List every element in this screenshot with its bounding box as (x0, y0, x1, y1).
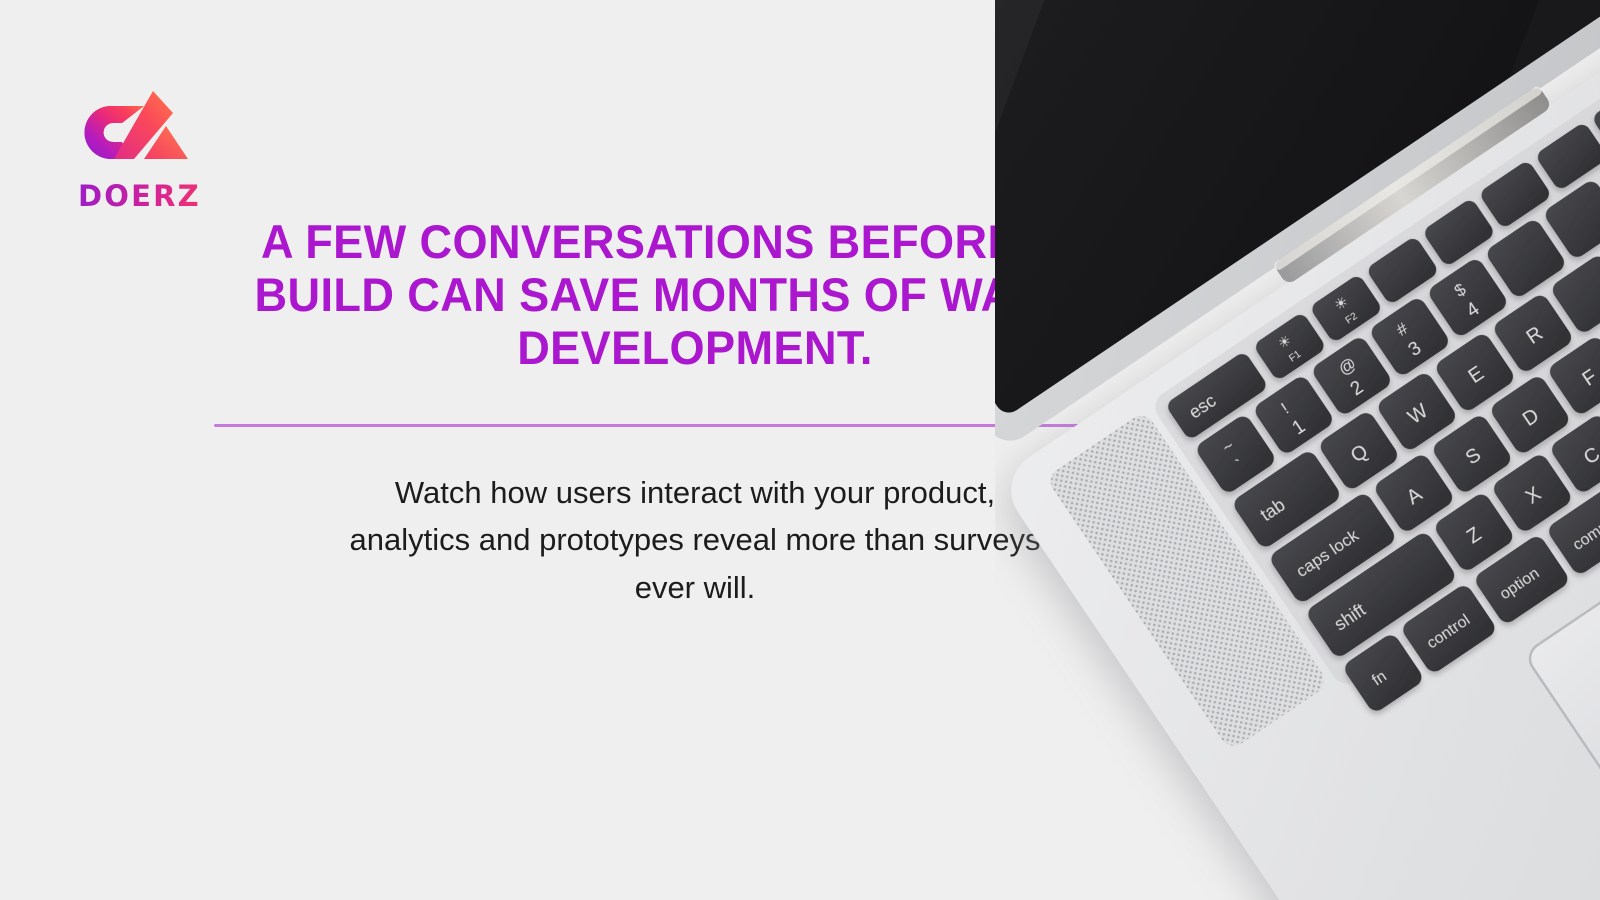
key-f3[interactable] (1365, 235, 1439, 305)
headline: A FEW CONVERSATIONS BEFORE YOU BUILD CAN… (220, 215, 1170, 374)
key-f7[interactable] (1591, 83, 1600, 153)
svg-text:shift: shift (1331, 600, 1370, 635)
key-f[interactable]: F (1546, 334, 1600, 417)
brand-logo: DOERZ (78, 88, 228, 211)
svg-text:Z: Z (1463, 523, 1485, 548)
key-r[interactable]: R (1491, 292, 1575, 375)
svg-text:#: # (1393, 318, 1412, 339)
svg-text:C: C (1580, 443, 1600, 469)
trackpad[interactable] (1524, 419, 1600, 894)
svg-text:fn: fn (1369, 668, 1390, 690)
brand-wordmark: DOERZ (78, 182, 228, 211)
svg-text:A: A (1403, 483, 1427, 509)
svg-text:W: W (1404, 400, 1432, 429)
svg-text:R: R (1523, 322, 1547, 348)
svg-text:control: control (1424, 612, 1473, 653)
key-command[interactable]: command (1545, 471, 1600, 577)
key-shift[interactable]: shift (1305, 530, 1458, 660)
key-s[interactable]: S (1430, 413, 1514, 496)
svg-text:command: command (1570, 501, 1600, 554)
svg-text:@: @ (1335, 354, 1360, 379)
key-control[interactable]: control (1399, 582, 1498, 675)
key-t[interactable] (1549, 253, 1600, 336)
svg-text:D: D (1519, 405, 1543, 431)
key-3[interactable]: # 3 (1368, 295, 1452, 378)
svg-text:E: E (1465, 362, 1488, 388)
key-q[interactable]: Q (1317, 409, 1401, 492)
svg-text:~: ~ (1219, 436, 1238, 457)
svg-text:3: 3 (1405, 338, 1426, 361)
keyboard-keys: esc ☀ F1 ☀ F2 (1165, 2, 1600, 715)
laptop-hinge (1273, 85, 1553, 285)
key-f5[interactable] (1478, 159, 1552, 229)
text-column: A FEW CONVERSATIONS BEFORE YOU BUILD CAN… (200, 215, 1190, 611)
key-5[interactable] (1484, 217, 1568, 300)
svg-text:1: 1 (1289, 416, 1310, 439)
svg-text:esc: esc (1185, 390, 1219, 422)
svg-text:$: $ (1451, 279, 1470, 300)
svg-text:option: option (1497, 565, 1543, 603)
key-f1[interactable]: ☀ F1 (1253, 312, 1327, 382)
key-a[interactable]: A (1372, 452, 1456, 535)
svg-text:☀: ☀ (1275, 332, 1294, 352)
key-1[interactable]: ! 1 (1252, 374, 1336, 457)
svg-text:4: 4 (1463, 298, 1484, 322)
keyboard-well (1149, 0, 1600, 690)
svg-text:`: ` (1233, 455, 1248, 474)
svg-text:X: X (1522, 483, 1545, 509)
key-x[interactable]: X (1490, 452, 1574, 535)
key-tab[interactable]: tab (1231, 448, 1343, 550)
key-2[interactable]: @ 2 (1310, 334, 1394, 417)
key-w[interactable]: W (1375, 370, 1459, 453)
key-6[interactable] (1542, 178, 1600, 261)
svg-text:!: ! (1278, 399, 1293, 417)
subtext: Watch how users interact with your produ… (200, 469, 1190, 610)
svg-text:caps lock: caps lock (1293, 525, 1363, 581)
svg-text:F2: F2 (1344, 311, 1360, 327)
doerz-monogram-icon (78, 88, 190, 174)
svg-text:F1: F1 (1287, 349, 1303, 365)
key-caps-lock[interactable]: caps lock (1268, 491, 1398, 605)
key-4[interactable]: $ 4 (1426, 256, 1510, 339)
key-f4[interactable] (1422, 197, 1496, 267)
key-z[interactable]: Z (1432, 491, 1516, 574)
svg-text:F: F (1579, 366, 1600, 391)
svg-text:S: S (1462, 444, 1485, 470)
key-e[interactable]: E (1433, 331, 1517, 414)
slide-canvas: DOERZ A FEW CONVERSATIONS BEFORE YOU BUI… (0, 0, 1600, 900)
svg-text:tab: tab (1257, 495, 1289, 526)
key-c[interactable]: C (1548, 413, 1600, 496)
section-divider (214, 424, 1176, 427)
key-option[interactable]: option (1472, 533, 1571, 626)
svg-text:2: 2 (1347, 377, 1368, 400)
svg-text:☀: ☀ (1331, 293, 1352, 315)
key-backtick[interactable]: ~ ` (1194, 413, 1278, 496)
key-f6[interactable] (1534, 121, 1600, 191)
key-d[interactable]: D (1488, 373, 1572, 456)
key-fn[interactable]: fn (1341, 632, 1425, 715)
svg-text:Q: Q (1347, 440, 1372, 467)
key-f2[interactable]: ☀ F2 (1309, 273, 1383, 343)
